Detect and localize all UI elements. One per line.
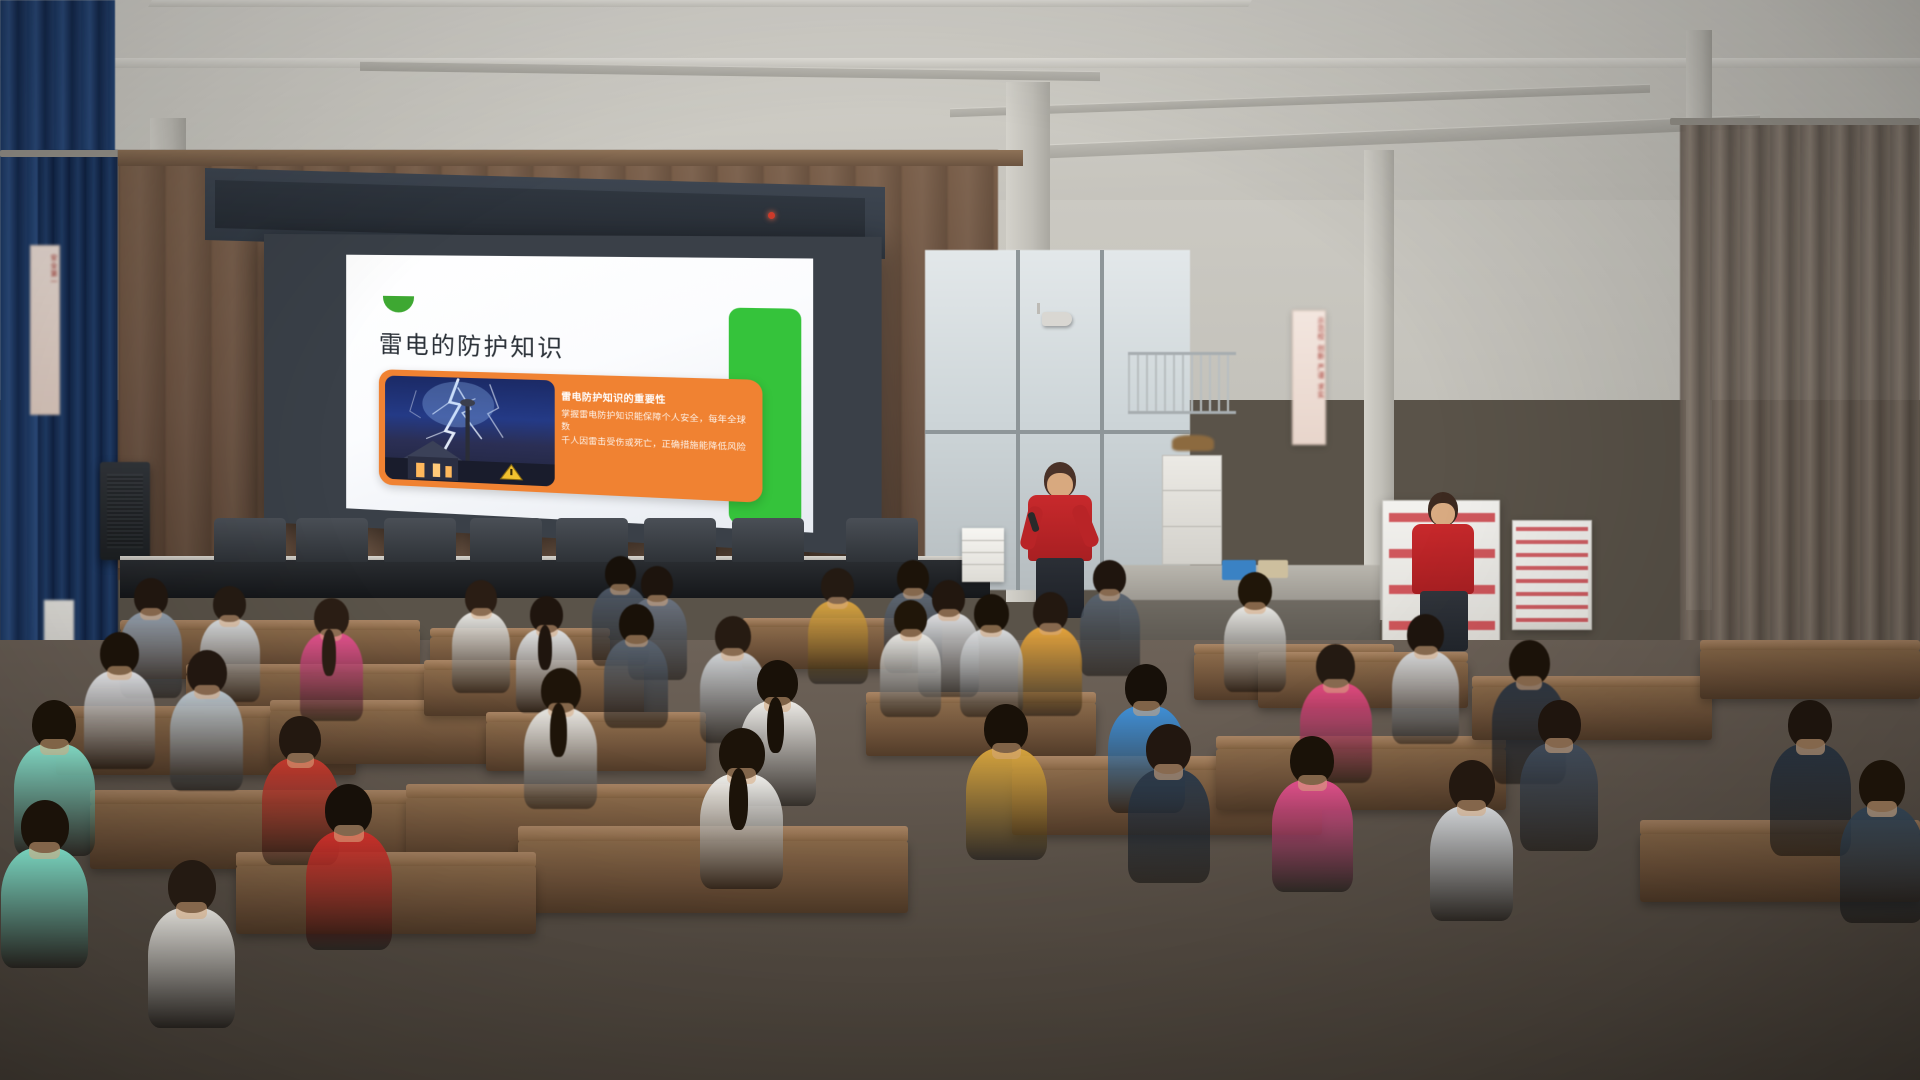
audience-nape: [1414, 646, 1438, 659]
audience-member: [700, 728, 783, 889]
audience-nape: [827, 597, 848, 609]
audience-member: [1, 800, 88, 968]
wall-banner-right-text: 示范校 创新 严谨 求实: [1293, 317, 1325, 399]
audience-member: [604, 604, 668, 729]
slide-card-text: 雷电防护知识的重要性 掌握雷电防护知识能保障个人安全，每年全球数 千人因雷击受伤…: [561, 389, 753, 455]
audience-nape: [625, 635, 648, 647]
ceiling-beam: [148, 0, 1252, 7]
audience-nape: [1457, 800, 1486, 816]
bench: [1700, 650, 1920, 699]
wall-banner-right: 示范校 创新 严谨 求实: [1292, 310, 1326, 445]
audience-torso: [880, 633, 941, 717]
audience-torso: [1770, 744, 1851, 856]
audience-torso: [604, 639, 668, 728]
basket: [1172, 435, 1214, 451]
audience-torso: [1128, 769, 1210, 883]
audience-ponytail: [550, 703, 567, 757]
slide-content-card: 雷电防护知识的重要性 掌握雷电防护知识能保障个人安全，每年全球数 千人因雷击受伤…: [379, 369, 763, 503]
stage-chair: [470, 518, 542, 562]
ceiling-beam: [0, 58, 1920, 68]
audience-ponytail: [729, 768, 748, 830]
audience-nape: [107, 666, 132, 680]
security-camera-icon: [1042, 312, 1072, 326]
lightning-bolt-icon: [385, 376, 555, 487]
curtain-rail-left: [0, 150, 120, 157]
audience-member: [1080, 560, 1140, 675]
audience-member: [1018, 592, 1082, 717]
audience-nape: [1298, 775, 1327, 791]
audience-torso: [170, 690, 243, 791]
loudspeaker-left: [100, 462, 150, 560]
glass-mullion: [925, 430, 1190, 434]
audience-torso: [966, 748, 1047, 860]
audience-nape: [992, 743, 1021, 759]
slide-accent-dot-icon: [383, 296, 414, 313]
audience-nape: [29, 842, 60, 859]
glass-mullion: [1100, 250, 1104, 590]
audience-member: [1770, 700, 1851, 856]
audience-torso: [1840, 806, 1920, 923]
audience-member: [524, 668, 597, 810]
audience-member: [148, 860, 235, 1028]
auditorium-photo: 安全第一 示范校 创新 严谨 求实 雷电的防护知识: [0, 0, 1920, 1080]
audience-member: [960, 594, 1023, 716]
projection-screen: 雷电的防护知识: [264, 234, 882, 556]
stage-chair: [846, 518, 918, 562]
audience-nape: [610, 584, 630, 595]
volunteer-face: [1431, 503, 1455, 526]
audience-nape: [287, 753, 314, 768]
audience-torso: [148, 908, 235, 1028]
stage-chair: [296, 518, 368, 562]
audience-member: [1272, 736, 1353, 892]
audience-member: [880, 600, 941, 718]
audience-member: [966, 704, 1047, 860]
audience-nape: [1796, 739, 1825, 755]
audience-nape: [1133, 701, 1160, 716]
stage-chair: [644, 518, 716, 562]
audience-nape: [900, 629, 922, 641]
audience-member: [1128, 724, 1210, 882]
audience-torso: [452, 612, 510, 693]
audience-nape: [1867, 801, 1897, 817]
audience-torso: [1, 848, 88, 968]
audience-torso: [1224, 606, 1286, 692]
audience-nape: [194, 685, 220, 699]
audience-member: [1224, 572, 1286, 692]
wall-banner-left-text: 安全第一: [31, 254, 59, 286]
audience-nape: [1545, 738, 1573, 753]
audience-nape: [1244, 602, 1266, 614]
stage-chair: [384, 518, 456, 562]
audience-member: [452, 580, 510, 693]
audience-nape: [1099, 589, 1120, 601]
curtain-right: [1680, 120, 1920, 680]
audience-nape: [40, 739, 69, 755]
audience-torso: [1392, 651, 1459, 744]
audience-torso: [1520, 743, 1598, 851]
audience-nape: [938, 609, 960, 621]
audience-ponytail: [322, 629, 336, 676]
volunteer-vest: [1412, 524, 1474, 594]
slide-title: 雷电的防护知识: [379, 324, 565, 364]
audience-nape: [1323, 679, 1349, 693]
stage-chair: [214, 518, 286, 562]
audience-nape: [1154, 764, 1183, 780]
audience-ponytail: [538, 625, 552, 670]
audience-member: [300, 598, 363, 720]
audience-nape: [140, 608, 162, 620]
audience-nape: [980, 625, 1002, 637]
wall-banner-left: 安全第一: [30, 245, 60, 415]
audience-member: [1392, 614, 1459, 744]
corridor-railing: [1128, 352, 1236, 414]
audience-nape: [1516, 676, 1542, 690]
audience-nape: [471, 608, 492, 619]
stage-chair: [732, 518, 804, 562]
audience-member: [1840, 760, 1920, 923]
audience-torso: [1430, 806, 1513, 921]
audience-member: [306, 784, 392, 950]
audience-torso: [1018, 627, 1082, 716]
display-board-far-right: [1512, 520, 1592, 630]
audience-nape: [1039, 623, 1062, 635]
audience-member: [808, 568, 868, 683]
papers: [962, 528, 1004, 582]
storage-cabinet: [1162, 455, 1222, 565]
audience-member: [1520, 700, 1598, 851]
audience-torso: [1272, 780, 1353, 892]
audience-member: [1430, 760, 1513, 921]
audience-member: [170, 650, 243, 792]
glass-mullion: [1016, 250, 1020, 590]
audience-torso: [808, 601, 868, 684]
audience-nape: [334, 825, 364, 842]
audience-nape: [219, 615, 240, 627]
audience-nape: [176, 902, 207, 919]
lightning-photo: [385, 376, 555, 487]
slide-card-heading: 雷电防护知识的重要性: [561, 389, 753, 409]
stage-wood-trim: [118, 150, 1023, 166]
curtain-rail-right: [1670, 118, 1920, 125]
audience-torso: [306, 831, 392, 950]
presentation-slide: 雷电的防护知识: [346, 255, 813, 533]
indicator-light: [768, 212, 775, 219]
